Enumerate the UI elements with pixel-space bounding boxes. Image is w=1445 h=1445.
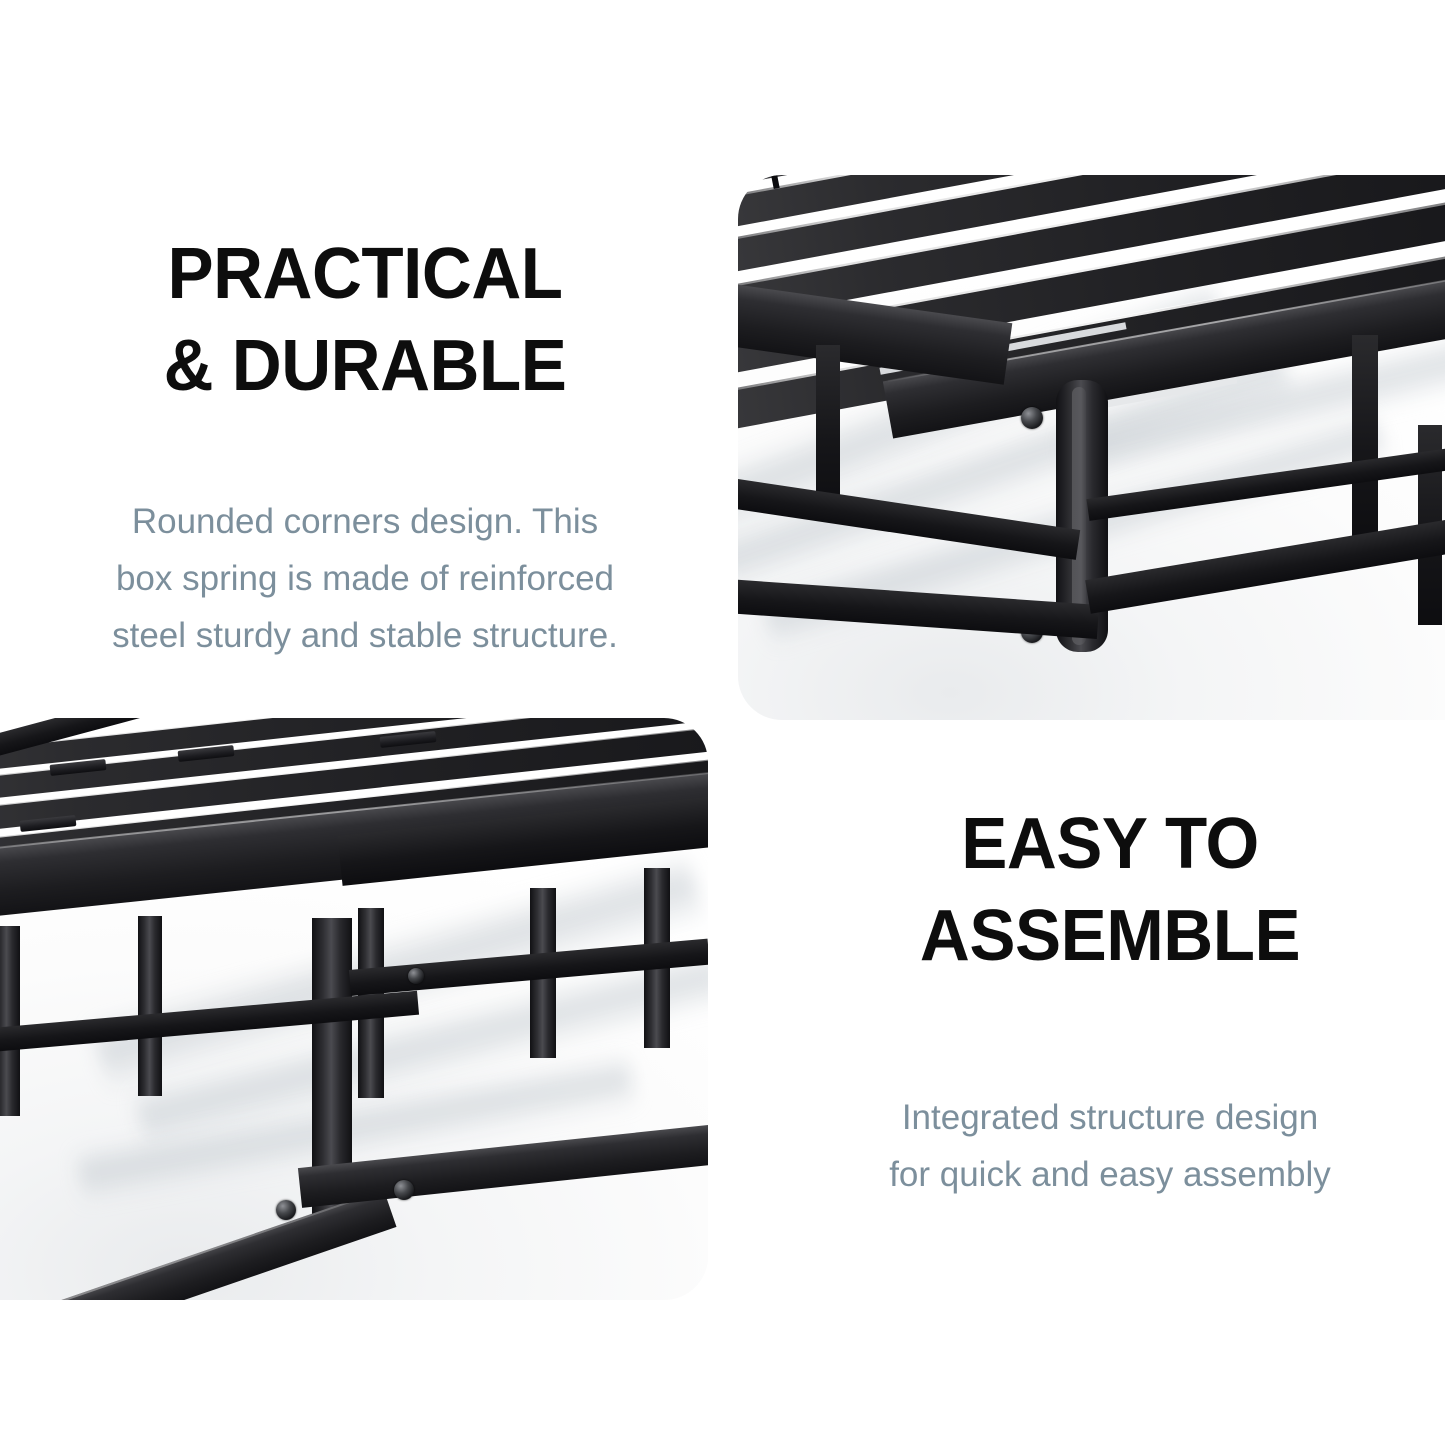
base-bolt-right: [394, 1180, 414, 1200]
corner-bolt-top: [1021, 407, 1043, 429]
heading-line-1: PRACTICAL: [63, 228, 668, 320]
heading-line-2: ASSEMBLE: [808, 890, 1413, 982]
body-easy-to-assemble: Integrated structure design for quick an…: [795, 1090, 1425, 1203]
heading-easy-to-assemble: EASY TO ASSEMBLE: [808, 798, 1413, 982]
heading-line-2: & DURABLE: [63, 320, 668, 412]
product-photo-rounded-corner: [738, 175, 1445, 720]
feature-block-easy-to-assemble: EASY TO ASSEMBLE Integrated structure de…: [795, 798, 1425, 1204]
support-bolt-mid: [408, 968, 424, 984]
heading-practical-durable: PRACTICAL & DURABLE: [63, 228, 668, 412]
body-line-1: Integrated structure design: [795, 1090, 1425, 1147]
rear-leg-right: [1352, 335, 1378, 550]
product-infographic: PRACTICAL & DURABLE Rounded corners desi…: [0, 0, 1445, 1445]
body-practical-durable: Rounded corners design. This box spring …: [50, 494, 680, 664]
body-line-2: box spring is made of reinforced: [50, 551, 680, 608]
heading-line-1: EASY TO: [808, 798, 1413, 890]
leg-left-inner: [138, 916, 162, 1096]
leg-left-outer: [0, 926, 20, 1116]
body-line-2: for quick and easy assembly: [795, 1147, 1425, 1204]
base-bolt-left: [276, 1200, 296, 1220]
feature-block-practical-durable: PRACTICAL & DURABLE Rounded corners desi…: [50, 228, 680, 664]
product-photo-full-frame: [0, 718, 708, 1300]
body-line-3: steel sturdy and stable structure.: [50, 608, 680, 665]
body-line-1: Rounded corners design. This: [50, 494, 680, 551]
